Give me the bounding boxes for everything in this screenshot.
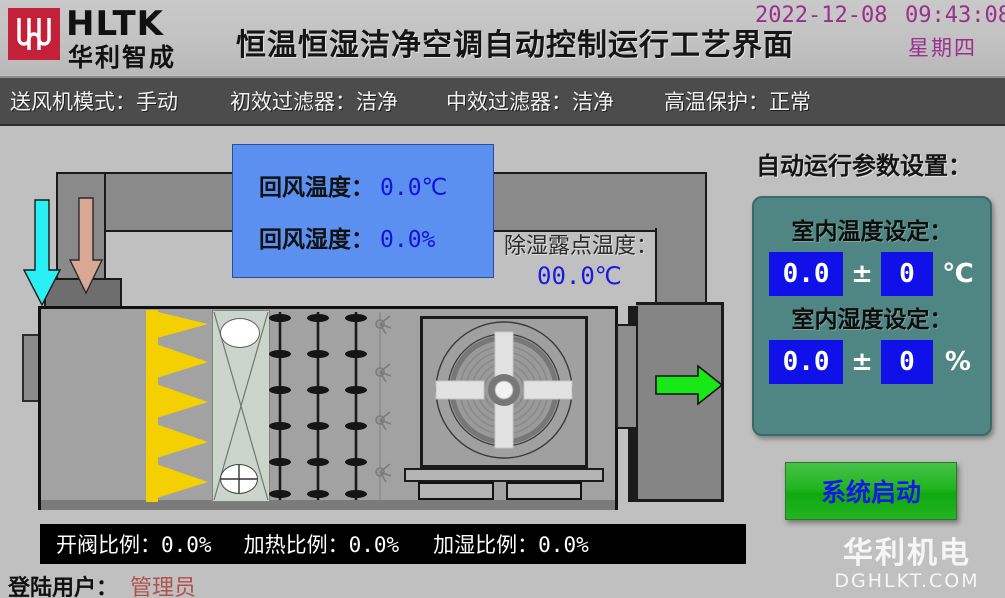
status-fan-mode-value: 手动 — [136, 90, 178, 114]
supply-fan-impeller-icon — [420, 316, 588, 468]
indoor-temp-setpoint-row: 0.0 ± 0 ℃ — [754, 252, 990, 296]
status-high-temp-protection-label: 高温保护： — [664, 90, 769, 114]
login-user-value[interactable]: 管理员 — [130, 576, 196, 598]
air-filter-pleats-icon — [150, 310, 212, 502]
return-air-arrow-icon — [68, 196, 104, 296]
indoor-humidity-setpoint-label: 室内湿度设定： — [754, 300, 990, 334]
humidifying-ratio: 加湿比例：0.0% — [433, 529, 589, 559]
indoor-temp-tolerance-input[interactable]: 0 — [881, 252, 933, 296]
ahu-outlet-flange — [616, 324, 638, 429]
indoor-temp-setpoint-input[interactable]: 0.0 — [769, 252, 843, 296]
coil-port-top — [220, 318, 260, 348]
indoor-humidity-setpoint-input[interactable]: 0.0 — [769, 340, 843, 384]
status-medium-filter-label: 中效过滤器： — [446, 90, 572, 114]
fresh-air-arrow-icon — [22, 198, 62, 308]
dew-point-label: 除湿露点温度： — [504, 228, 658, 260]
indoor-humidity-setpoint-row: 0.0 ± 0 % — [754, 340, 990, 384]
heating-ratio-value: 0.0% — [349, 533, 400, 557]
indoor-humidity-tolerance-input[interactable]: 0 — [881, 340, 933, 384]
hmi-screen: HLTK 华利智成 恒温恒湿洁净空调自动控制运行工艺界面 2022-12-08 … — [0, 0, 1005, 598]
fan-support-platform — [404, 468, 604, 482]
system-date: 2022-12-08 — [755, 3, 887, 28]
status-primary-filter: 初效过滤器：洁净 — [230, 86, 398, 116]
indoor-temp-plusminus-symbol: ± — [851, 259, 873, 289]
return-air-humidity-label: 回风湿度： — [259, 220, 374, 254]
status-medium-filter: 中效过滤器：洁净 — [446, 86, 614, 116]
valve-open-ratio-label: 开阀比例： — [56, 533, 161, 557]
status-fan-mode: 送风机模式：手动 — [10, 86, 178, 116]
fan-foot-right — [506, 482, 582, 500]
indoor-humidity-unit: % — [941, 347, 975, 377]
status-medium-filter-value: 洁净 — [572, 90, 614, 114]
return-air-duct-right — [492, 172, 707, 232]
system-time: 09:43:08 — [905, 3, 1005, 28]
coil-port-cross-icon — [220, 464, 258, 494]
heating-ratio-label: 加热比例： — [244, 533, 349, 557]
indoor-humidity-plusminus-symbol: ± — [851, 347, 873, 377]
status-bar: 送风机模式：手动 初效过滤器：洁净 中效过滤器：洁净 高温保护：正常 — [0, 76, 1005, 126]
login-user-row: 登陆用户：管理员 — [8, 570, 196, 598]
company-logo — [8, 8, 60, 60]
logo-wordmark-cn: 华利智成 — [68, 38, 176, 74]
page-title: 恒温恒湿洁净空调自动控制运行工艺界面 — [236, 20, 794, 64]
supply-air-arrow-icon — [654, 364, 724, 406]
heating-ratio: 加热比例：0.0% — [244, 529, 400, 559]
hltk-logo-icon — [8, 8, 60, 60]
status-high-temp-protection-value: 正常 — [769, 90, 811, 114]
status-fan-mode-label: 送风机模式： — [10, 90, 136, 114]
auto-params-title: 自动运行参数设置： — [756, 146, 972, 181]
return-air-temperature-row: 回风温度： 0.0℃ — [259, 168, 493, 202]
auto-params-panel: 室内温度设定： 0.0 ± 0 ℃ 室内湿度设定： 0.0 ± 0 % — [752, 196, 992, 436]
valve-open-ratio-value: 0.0% — [161, 533, 212, 557]
system-start-button[interactable]: 系统启动 — [785, 462, 957, 520]
login-user-label: 登陆用户： — [8, 576, 118, 598]
status-primary-filter-value: 洁净 — [356, 90, 398, 114]
humidifier-spray-nozzles-icon — [364, 310, 404, 502]
indoor-temp-unit: ℃ — [941, 259, 975, 289]
valve-open-ratio: 开阀比例：0.0% — [56, 529, 212, 559]
fan-foot-left — [418, 482, 494, 500]
dew-point-value: 00.0℃ — [537, 262, 622, 290]
system-weekday: 星期四 — [908, 32, 977, 62]
header-bar: HLTK 华利智成 恒温恒湿洁净空调自动控制运行工艺界面 2022-12-08 … — [0, 0, 1005, 75]
status-high-temp-protection: 高温保护：正常 — [664, 86, 811, 116]
return-air-readout-box: 回风温度： 0.0℃ 回风湿度： 0.0% — [232, 144, 494, 278]
status-primary-filter-label: 初效过滤器： — [230, 90, 356, 114]
return-air-humidity-row: 回风湿度： 0.0% — [259, 220, 493, 254]
return-air-humidity-value: 0.0% — [380, 227, 435, 253]
humidifying-ratio-value: 0.0% — [538, 533, 589, 557]
return-air-temperature-value: 0.0℃ — [380, 175, 447, 201]
humidifying-ratio-label: 加湿比例： — [433, 533, 538, 557]
indoor-temp-setpoint-label: 室内温度设定： — [754, 212, 990, 246]
return-air-temperature-label: 回风温度： — [259, 168, 374, 202]
system-start-button-label: 系统启动 — [821, 473, 921, 509]
process-ratio-bar: 开阀比例：0.0% 加热比例：0.0% 加湿比例：0.0% — [40, 524, 746, 564]
